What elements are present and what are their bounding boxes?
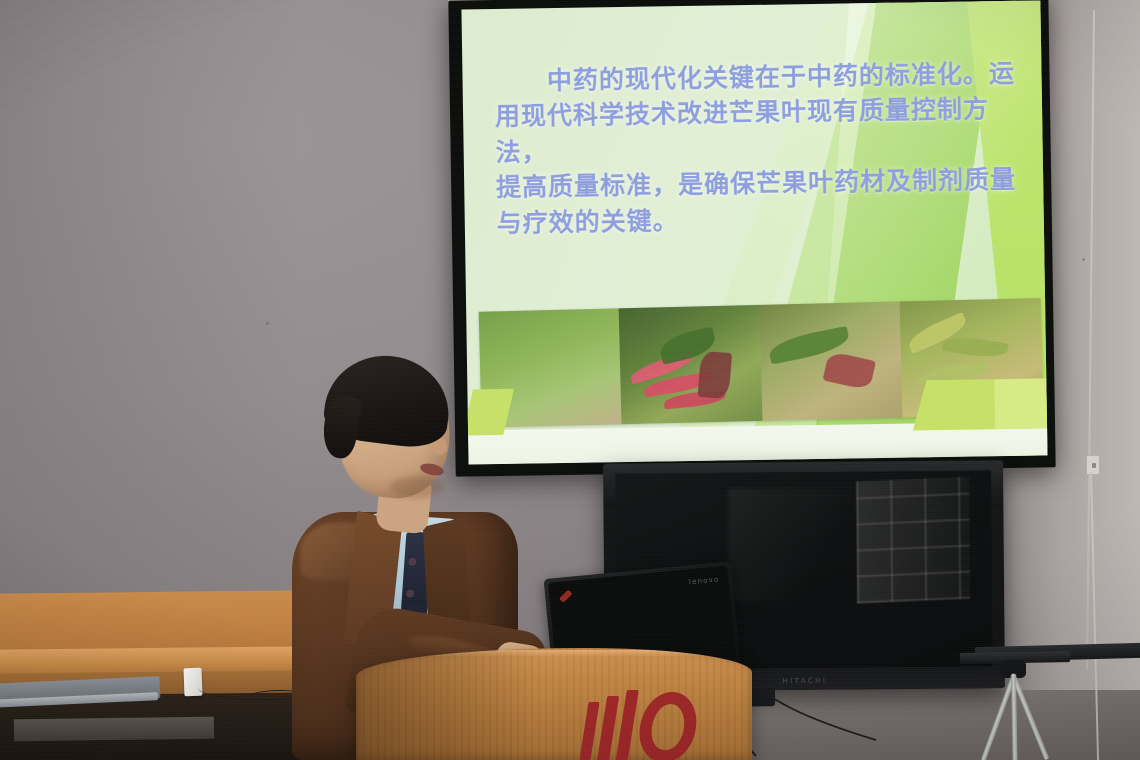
podium-shadow [356, 648, 538, 760]
wall-mark [1082, 258, 1085, 261]
wall-socket[interactable] [1086, 455, 1100, 475]
presentation-photo: 中药的现代化关键在于中药的标准化。运 用现代科学技术改进芒果叶现有质量控制方法，… [0, 0, 1140, 760]
wireless-receiver[interactable] [184, 668, 203, 697]
chin-shadow [390, 476, 444, 498]
camera-tripod[interactable] [960, 652, 1080, 760]
desk-shelf [14, 717, 214, 742]
slide-photo-2 [619, 305, 762, 424]
slide-accent-right-block [994, 378, 1047, 429]
slide-photo-3 [759, 302, 902, 421]
institution-logo-icon [582, 690, 706, 760]
window-reflection [856, 476, 970, 602]
wooden-podium [356, 648, 752, 760]
desk-backboard [0, 590, 306, 653]
slide-body-text: 中药的现代化关键在于中药的标准化。运 用现代科学技术改进芒果叶现有质量控制方法，… [494, 55, 1018, 241]
wall-mark [266, 322, 269, 325]
slide-line-2: 用现代科学技术改进芒果叶现有质量控制方法， [495, 91, 1017, 170]
screen-glare [728, 487, 857, 602]
